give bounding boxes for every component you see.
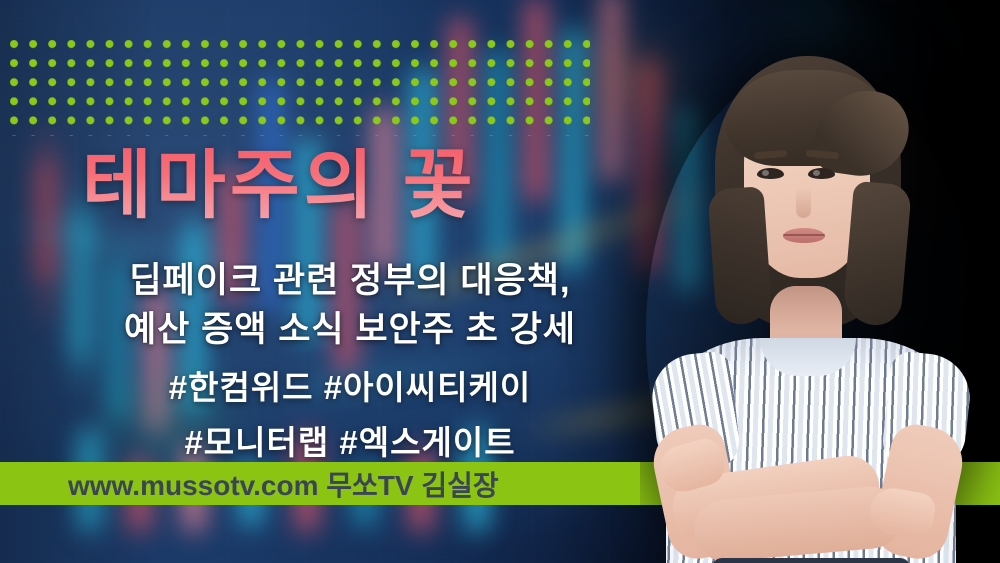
main-title: 테마주의 꽃 [82, 148, 602, 224]
nose [796, 188, 811, 218]
hashtag-line-1: #한컴위드 #아이씨티케이 [0, 360, 700, 415]
eye-left [757, 168, 784, 179]
presenter-figure [620, 38, 1000, 563]
subtitle-line-2: 예산 증액 소식 보안주 초 강세 [0, 305, 700, 354]
green-dot-grid-decoration [10, 40, 590, 136]
eye-right [808, 168, 835, 179]
eye-highlight-right [813, 170, 820, 176]
hair-curl-left [707, 186, 772, 326]
footer-bar: www.mussotv.com 무쏘TV 김실장 [0, 462, 640, 505]
subtitle-line-1: 딥페이크 관련 정부의 대응책, [0, 256, 700, 305]
eye-highlight-left [762, 170, 769, 176]
neck-shadow [770, 286, 842, 332]
skirt [712, 558, 910, 563]
subtitle-block: 딥페이크 관련 정부의 대응책, 예산 증액 소식 보안주 초 강세 [0, 256, 700, 354]
footer-branding-text: www.mussotv.com 무쏘TV 김실장 [68, 464, 499, 504]
lip-line [783, 234, 825, 236]
hashtag-block: #한컴위드 #아이씨티케이 #모니터랩 #엑스게이트 [0, 360, 700, 470]
thumbnail-canvas: 테마주의 꽃 딥페이크 관련 정부의 대응책, 예산 증액 소식 보안주 초 강… [0, 0, 1000, 563]
